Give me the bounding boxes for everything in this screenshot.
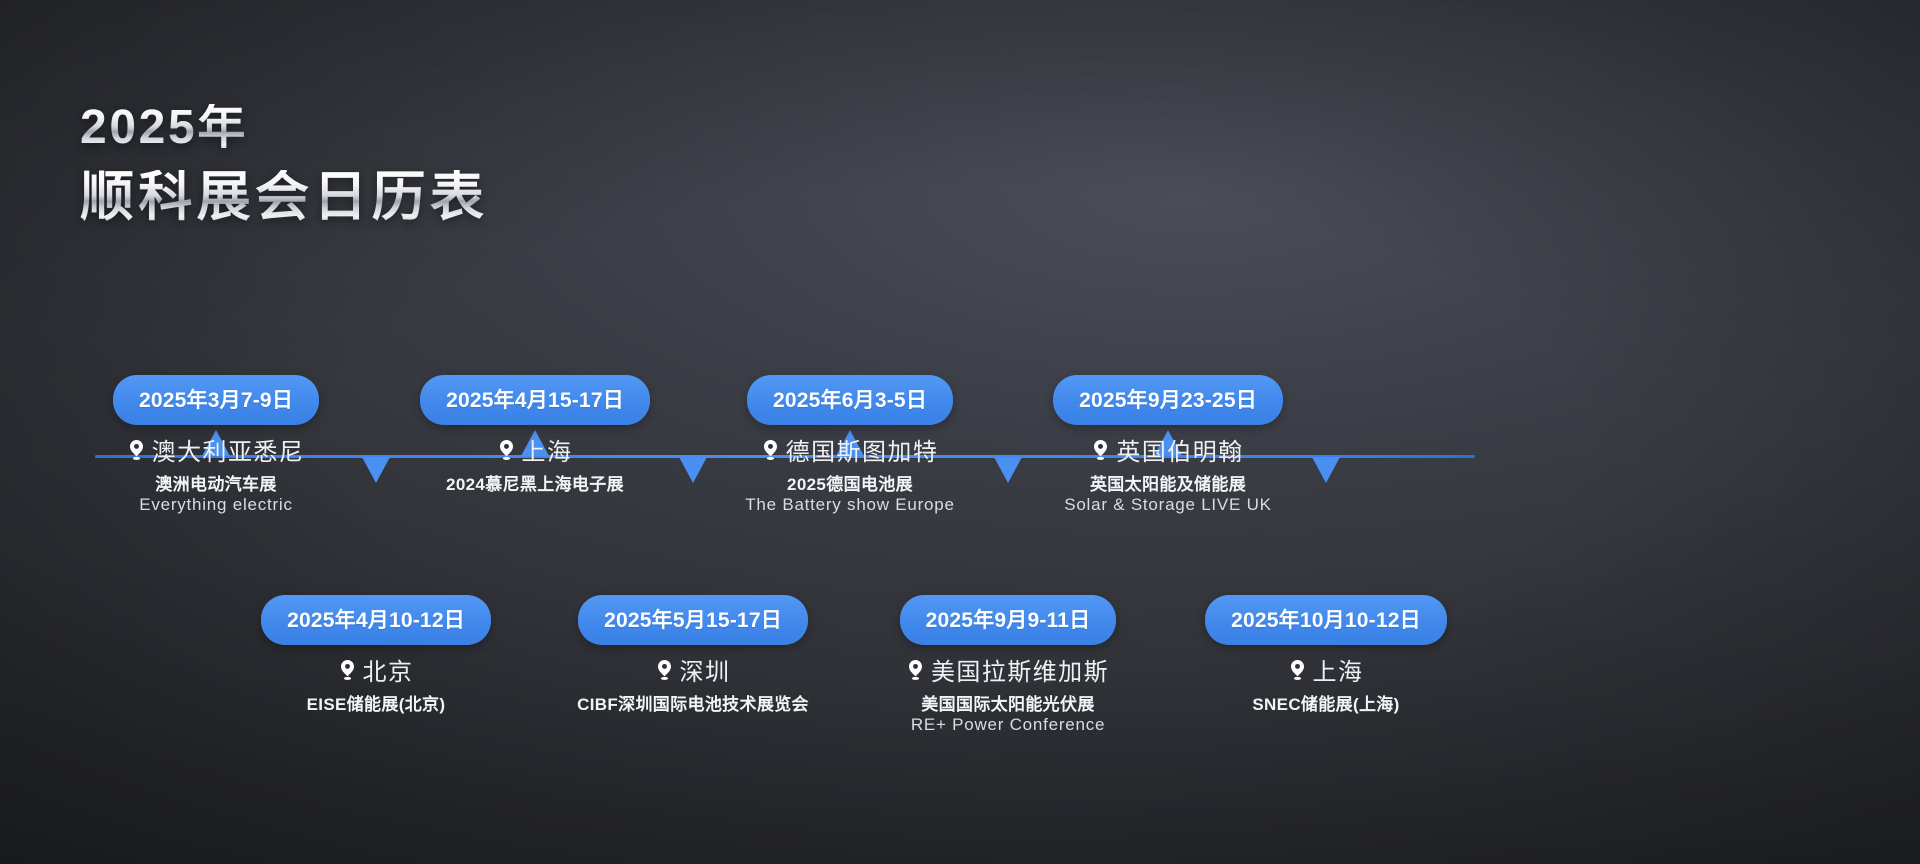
- event-location: 上海: [1289, 652, 1364, 687]
- event-content: 2025年9月23-25日英国伯明翰英国太阳能及储能展Solar & Stora…: [868, 375, 1468, 515]
- location-pin-icon: [1289, 659, 1306, 681]
- timeline: 2025年3月7-9日澳大利亚悉尼澳洲电动汽车展Everything elect…: [0, 0, 1920, 864]
- event-date-badge[interactable]: 2025年9月23-25日: [1053, 375, 1283, 425]
- event-content: 2025年10月10-12日上海SNEC储能展(上海): [1026, 595, 1626, 715]
- event-name-en: RE+ Power Conference: [911, 715, 1105, 735]
- event-name-cn: 英国太阳能及储能展: [1090, 470, 1246, 495]
- location-pin-icon: [656, 659, 673, 681]
- location-pin-icon: [907, 659, 924, 681]
- event-name-en: Everything electric: [139, 495, 292, 515]
- location-pin-icon: [128, 439, 145, 461]
- location-pin-icon: [498, 439, 515, 461]
- event-location-label: 英国伯明翰: [1116, 432, 1243, 467]
- event-date-badge[interactable]: 2025年10月10-12日: [1205, 595, 1447, 645]
- event-location-label: 上海: [1313, 652, 1364, 687]
- event-location: 英国伯明翰: [1092, 432, 1243, 467]
- timeline-event-7[interactable]: 2025年9月23-25日英国伯明翰英国太阳能及储能展Solar & Stora…: [868, 375, 1468, 515]
- location-pin-icon: [762, 439, 779, 461]
- location-pin-icon: [1092, 439, 1109, 461]
- timeline-event-8[interactable]: 2025年10月10-12日上海SNEC储能展(上海): [1026, 595, 1626, 715]
- location-pin-icon: [339, 659, 356, 681]
- event-name-cn: SNEC储能展(上海): [1252, 690, 1399, 715]
- event-name-en: Solar & Storage LIVE UK: [1064, 495, 1272, 515]
